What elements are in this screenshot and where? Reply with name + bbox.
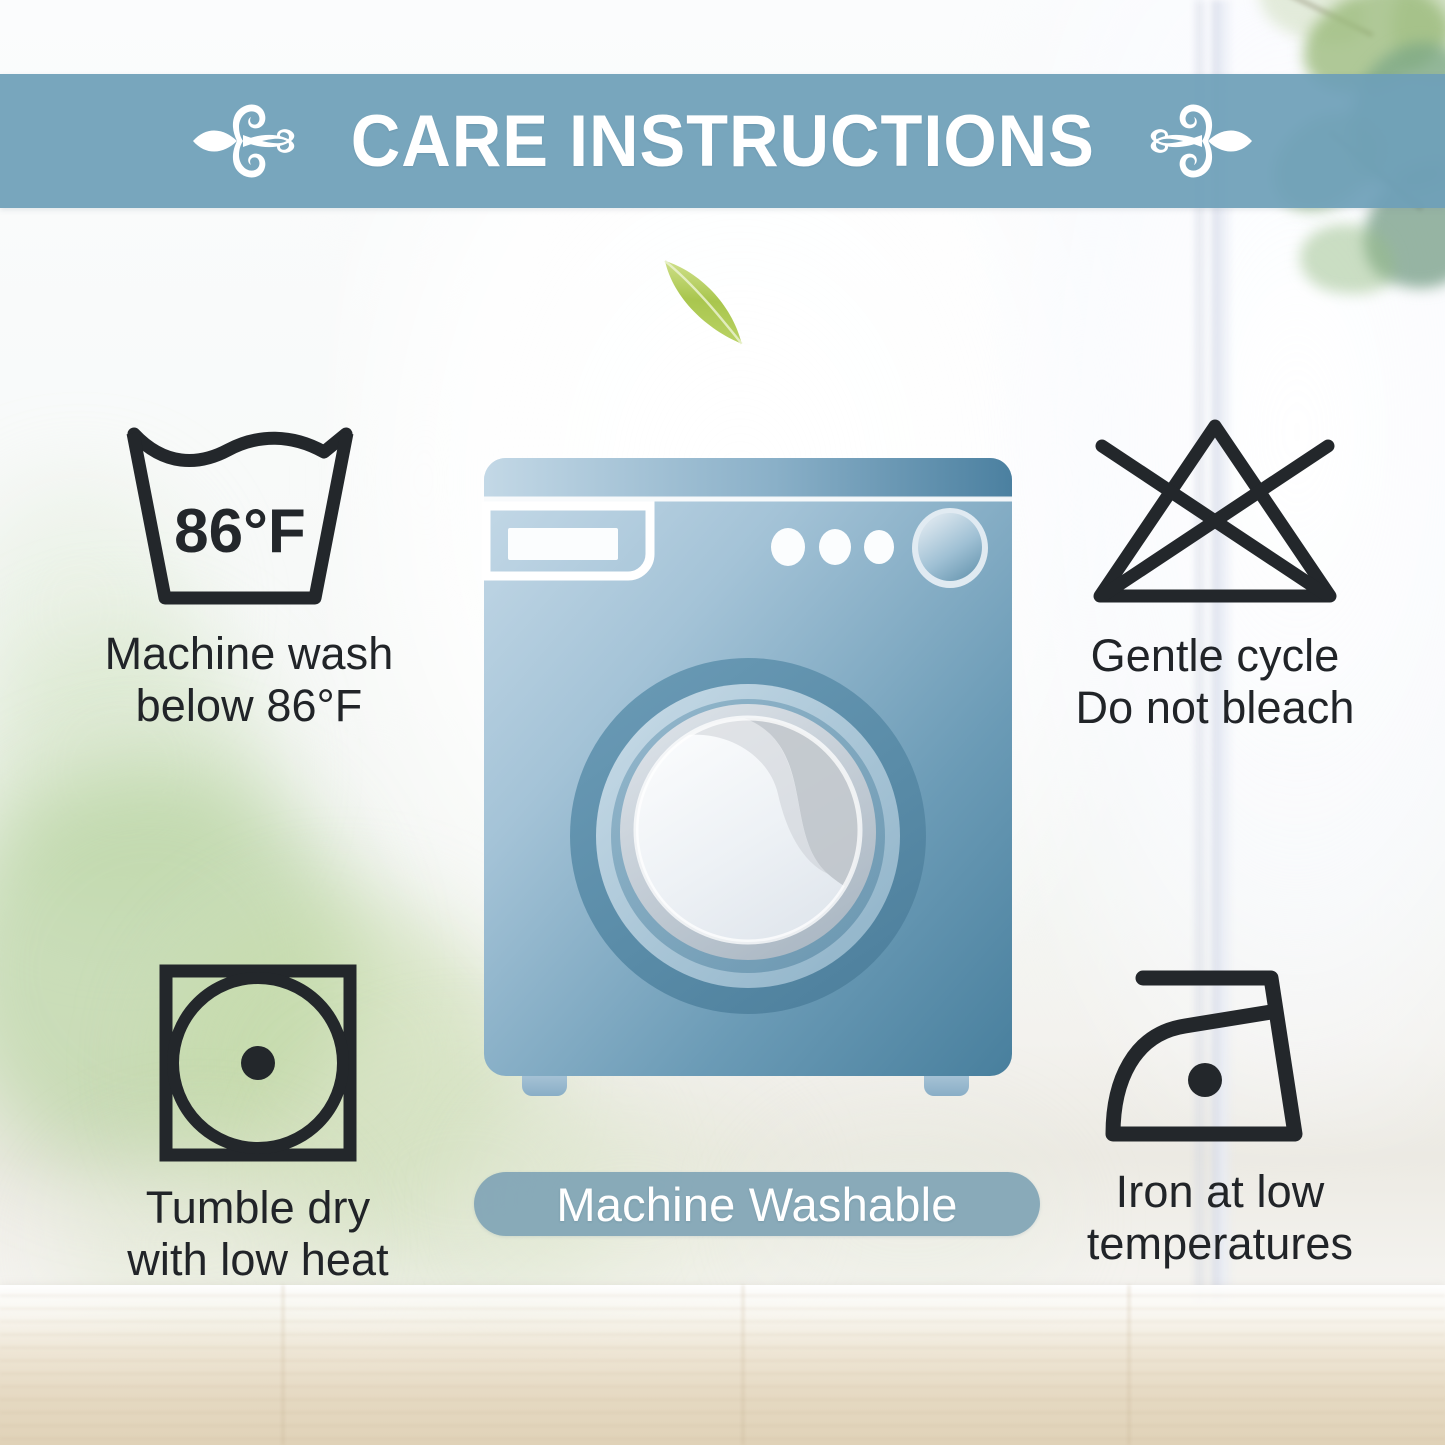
care-symbol-caption: Gentle cycle Do not bleach: [1076, 630, 1355, 734]
tumble-dry-heat-dot: [241, 1046, 275, 1080]
control-dot: [771, 528, 805, 566]
washing-machine-illustration: [472, 444, 1024, 1124]
care-symbol-iron-low: Iron at low temperatures: [1010, 962, 1430, 1270]
tumble-dry-icon: [157, 962, 359, 1164]
wash-temperature-label: 86°F: [174, 497, 306, 566]
wash-tub-icon: 86°F: [124, 424, 374, 610]
fleur-de-lis-ornament-icon: [1144, 99, 1254, 183]
status-badge-machine-washable: Machine Washable: [474, 1172, 1040, 1236]
control-dot: [819, 529, 851, 565]
iron-heat-dot: [1188, 1063, 1222, 1097]
drawer-handle: [508, 528, 618, 560]
care-symbol-machine-wash: 86°F Machine wash below 86°F: [24, 424, 474, 732]
care-symbol-tumble-dry: Tumble dry with low heat: [48, 962, 468, 1286]
page-title: CARE INSTRUCTIONS: [350, 105, 1094, 178]
wood-seam: [1128, 1285, 1130, 1445]
machine-top-panel: [484, 458, 1012, 498]
care-symbol-caption: Iron at low temperatures: [1087, 1166, 1353, 1270]
wood-seam: [282, 1285, 284, 1445]
status-badge-label: Machine Washable: [556, 1181, 957, 1228]
wood-seam: [742, 1285, 744, 1445]
control-dot: [864, 530, 894, 564]
care-symbol-do-not-bleach: Gentle cycle Do not bleach: [1000, 416, 1430, 734]
fleur-de-lis-ornament-icon: [191, 99, 301, 183]
wood-grain: [0, 1285, 1445, 1445]
care-symbol-caption: Tumble dry with low heat: [127, 1182, 388, 1286]
care-symbol-caption: Machine wash below 86°F: [105, 628, 394, 732]
header-banner: CARE INSTRUCTIONS: [0, 74, 1445, 208]
crossed-triangle-icon: [1084, 416, 1346, 608]
iron-icon: [1099, 962, 1341, 1148]
power-knob: [918, 513, 982, 581]
